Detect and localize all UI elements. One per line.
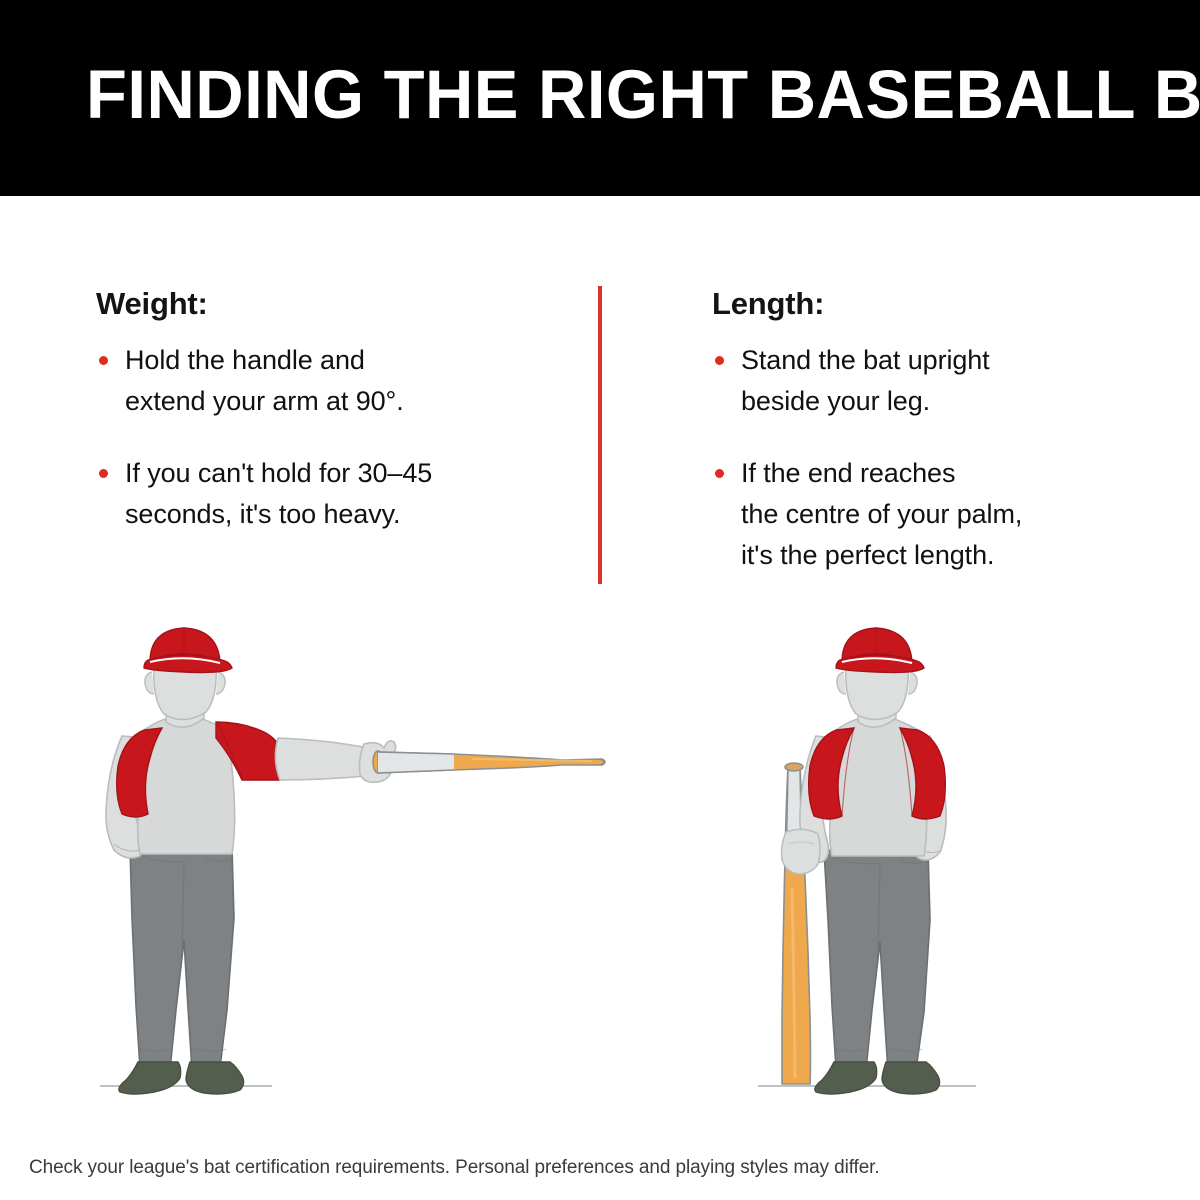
column-length-heading: Length: xyxy=(712,286,1132,322)
list-item: If the end reaches the centre of your pa… xyxy=(712,453,1132,576)
page-title: FINDING THE RIGHT BASEBALL BAT xyxy=(86,58,1200,132)
shoe-right xyxy=(882,1062,940,1094)
ear-right xyxy=(216,672,225,694)
bullet-dot-icon xyxy=(99,469,108,478)
list-item: Hold the handle and extend your arm at 9… xyxy=(96,340,566,422)
illustration-length-figure xyxy=(752,618,982,1098)
column-weight-bullet-list: Hold the handle and extend your arm at 9… xyxy=(96,340,566,535)
bullet-text: Hold the handle and extend your arm at 9… xyxy=(125,340,566,422)
column-divider xyxy=(598,286,602,584)
infographic-page: FINDING THE RIGHT BASEBALL BAT Weight: H… xyxy=(0,0,1200,1200)
list-item: If you can't hold for 30–45 seconds, it'… xyxy=(96,453,566,535)
player-figure-left xyxy=(106,628,396,1094)
column-weight: Weight: Hold the handle and extend your … xyxy=(96,286,566,535)
column-weight-heading: Weight: xyxy=(96,286,566,322)
bullet-text: If the end reaches the centre of your pa… xyxy=(741,453,1132,576)
list-item: Stand the bat upright beside your leg. xyxy=(712,340,1132,422)
bullet-dot-icon xyxy=(715,469,724,478)
hand-left-on-knob xyxy=(782,829,821,874)
bullet-text: Stand the bat upright beside your leg. xyxy=(741,340,1132,422)
pants xyxy=(130,848,234,1070)
bullet-dot-icon xyxy=(715,356,724,365)
bullet-dot-icon xyxy=(99,356,108,365)
ear-left xyxy=(837,672,846,694)
ear-right xyxy=(908,672,917,694)
bat-knob xyxy=(785,763,803,771)
shoe-left xyxy=(815,1062,877,1094)
bullet-text: If you can't hold for 30–45 seconds, it'… xyxy=(125,453,566,535)
shoe-left xyxy=(119,1062,181,1094)
footer-note: Check your league's bat certification re… xyxy=(29,1156,880,1180)
baseball-bat-horizontal xyxy=(373,751,605,773)
ear-left xyxy=(145,672,154,694)
pants xyxy=(824,850,930,1072)
column-length-bullet-list: Stand the bat upright beside your leg. I… xyxy=(712,340,1132,576)
illustration-weight-figure xyxy=(92,618,612,1098)
shoe-right xyxy=(186,1062,244,1094)
column-length: Length: Stand the bat upright beside you… xyxy=(712,286,1132,576)
